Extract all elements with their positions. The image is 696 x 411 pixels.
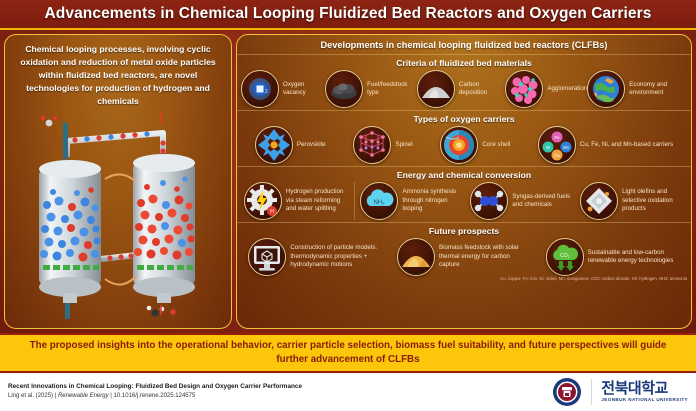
left-panel-caption: Chemical looping processes, involving cy… [5,35,231,111]
item-label: Perovskite [297,141,326,149]
item-label: Ammonia synthesis through nitrogen loopi… [402,188,464,213]
item-agglomeration[interactable]: Agglomeration [505,70,587,108]
item-economy-environment[interactable]: Economy and environment [587,70,687,108]
item-core-shell[interactable]: Core shell [440,126,510,164]
svg-text:2: 2 [265,89,268,95]
section-items: Perovskite [237,126,691,164]
page-title: Advancements in Chemical Looping Fluidiz… [45,5,652,23]
core-shell-icon [440,126,478,164]
item-syngas-fuels[interactable]: Syngas-derived fuels and chemicals [470,182,574,220]
agglomerated-particles-icon [505,70,543,108]
section-criteria: Criteria of fluidized bed materials 2 Ox… [237,54,691,110]
svg-text:Mn: Mn [563,145,569,150]
item-renewable-technologies[interactable]: CO₂ Sustainable and low-carbon renewable… [546,238,680,276]
carbon-capture-cloud-icon: CO₂ [546,238,584,276]
citation-authors: Ling et al. (2025) [8,393,53,399]
item-metal-based-carriers[interactable]: Fe Ni Mn Cu Cu, Fe, Ni, and Mn-based car… [538,126,673,164]
dual-fluidized-bed-reactor-diagram [5,107,232,329]
right-panel-title: Developments in chemical looping fluidiz… [237,35,691,54]
item-label: Carbon deposition [459,81,505,98]
syngas-molecule-icon [470,182,508,220]
citation-block: Recent Innovations in Chemical Looping: … [8,382,302,401]
carbon-pile-icon [417,70,455,108]
citation-doi[interactable]: 10.1016/j.renene.2025.124575 [114,393,196,399]
section-energy-conversion: Energy and chemical conversion [237,166,691,222]
item-ammonia-synthesis[interactable]: NH₃ Ammonia synthesis through nitrogen l… [360,182,464,220]
right-developments-panel: Developments in chemical looping fluidiz… [236,34,692,329]
conclusion-banner: The proposed insights into the operation… [0,333,696,373]
item-label: Hydrogen production via steam reforming … [286,188,348,213]
poster-board: Chemical looping processes, involving cy… [0,30,696,333]
metal-carriers-icon: Fe Ni Mn Cu [538,126,576,164]
perovskite-crystal-icon [255,126,293,164]
item-hydrogen-production[interactable]: H Hydrogen production via steam reformin… [244,182,348,220]
item-fuel-feedstock[interactable]: Fuel/feedstock type [325,70,417,108]
conclusion-text: The proposed insights into the operation… [0,339,696,367]
citation-title: Recent Innovations in Chemical Looping: … [8,382,302,392]
coal-lump-icon [325,70,363,108]
computer-model-icon [248,238,286,276]
svg-text:H: H [270,209,274,215]
logo-divider [591,379,592,405]
item-spinel[interactable]: Spinel [353,126,412,164]
item-label: Spinel [395,141,412,149]
svg-text:NH₃: NH₃ [374,200,386,206]
item-divider [354,182,355,220]
item-label: Cu, Fe, Ni, and Mn-based carriers [580,141,673,149]
left-summary-panel: Chemical looping processes, involving cy… [4,34,232,329]
item-biomass-solar[interactable]: Biomass feedstock with solar thermal ene… [397,238,531,276]
section-items: 2 Oxygen vacancy Fuel/feedsto [237,70,691,108]
university-logo: 전북대학교 JEONBUK NATIONAL UNIVERSITY [552,377,688,407]
section-title: Criteria of fluidized bed materials [237,58,691,68]
jeonbuk-emblem-icon [552,377,582,407]
logo-text-block: 전북대학교 JEONBUK NATIONAL UNIVERSITY [601,381,688,403]
oxygen-vacancy-icon: 2 [241,70,279,108]
item-label: Sustainable and low-carbon renewable ene… [588,249,680,266]
section-oxygen-carriers: Types of oxygen carriers [237,110,691,166]
section-title: Types of oxygen carriers [237,114,691,124]
item-oxygen-vacancy[interactable]: 2 Oxygen vacancy [241,70,325,108]
item-label: Construction of particle models: thermod… [290,244,382,269]
item-label: Economy and environment [629,81,687,98]
abbreviations-footnote: Cu: copper, Fe: iron, Ni: nickel, Mn: ma… [237,276,691,283]
section-items: Construction of particle models: thermod… [237,238,691,276]
logo-korean-name: 전북대학교 [601,381,688,396]
item-light-olefins[interactable]: Light olefins and selective oxidation pr… [580,182,684,220]
section-future-prospects: Future prospects [237,222,691,285]
svg-text:Cu: Cu [554,153,560,158]
citation-journal: Renewable Energy [58,393,109,399]
ammonia-cloud-icon: NH₃ [360,182,398,220]
item-label: Core shell [482,141,510,149]
section-title: Energy and chemical conversion [237,170,691,180]
svg-text:Ni: Ni [546,145,550,150]
item-label: Fuel/feedstock type [367,81,417,98]
item-carbon-deposition[interactable]: Carbon deposition [417,70,505,108]
title-bar: Advancements in Chemical Looping Fluidiz… [0,0,696,30]
logo-english-name: JEONBUK NATIONAL UNIVERSITY [601,396,688,403]
biomass-pile-icon [397,238,435,276]
item-label: Biomass feedstock with solar thermal ene… [439,244,531,269]
olefins-crystal-icon [580,182,618,220]
item-label: Oxygen vacancy [283,81,325,98]
svg-text:Fe: Fe [554,135,560,140]
item-particle-models[interactable]: Construction of particle models: thermod… [248,238,382,276]
citation-details: Ling et al. (2025) | Renewable Energy | … [8,392,302,402]
svg-text:CO₂: CO₂ [560,253,570,259]
item-label: Light olefins and selective oxidation pr… [622,188,684,213]
spinel-lattice-icon [353,126,391,164]
hydrogen-gear-icon: H [244,182,282,220]
footer: Recent Innovations in Chemical Looping: … [0,373,696,411]
section-items: H Hydrogen production via steam reformin… [237,182,691,220]
item-label: Agglomeration [547,85,587,93]
item-label: Syngas-derived fuels and chemicals [512,193,574,210]
item-perovskite[interactable]: Perovskite [255,126,326,164]
section-title: Future prospects [237,226,691,236]
globe-icon [587,70,625,108]
